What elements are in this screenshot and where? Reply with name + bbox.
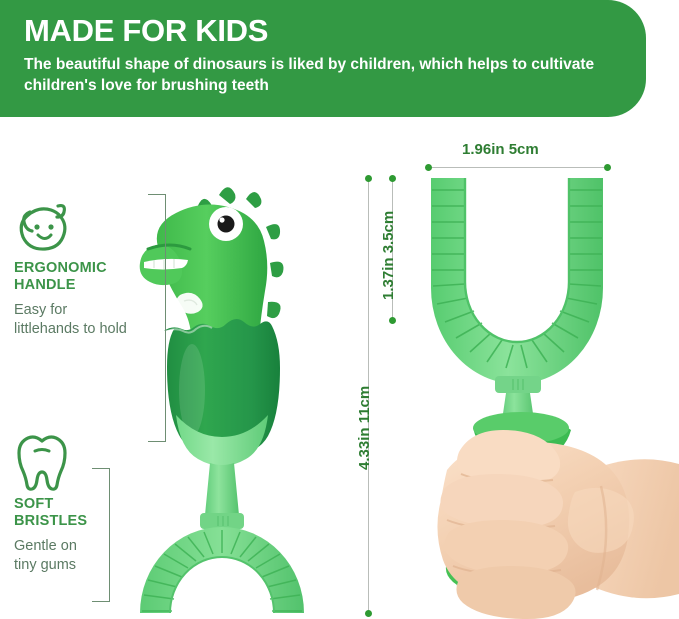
feature-body-line-1: Gentle on [14, 537, 154, 556]
child-hand [437, 430, 679, 619]
feature-body-line-2: tiny gums [14, 556, 154, 575]
feature-heading-line-1: SOFT [14, 496, 154, 513]
feature-body: Gentle on tiny gums [14, 537, 154, 575]
banner-subtitle: The beautiful shape of dinosaurs is like… [24, 54, 604, 96]
dimension-endpoint-dot [365, 175, 372, 182]
header-banner: MADE FOR KIDS The beautiful shape of din… [0, 0, 646, 117]
dimension-endpoint-dot [425, 164, 432, 171]
dimension-endpoint-dot [604, 164, 611, 171]
feature-heading-line-2: HANDLE [14, 277, 154, 294]
feature-soft-bristles: SOFT BRISTLES Gentle on tiny gums [14, 432, 154, 575]
dimension-label-brush-head-height: 1.37in 3.5cm [380, 211, 397, 300]
dino-eye-glint [219, 217, 224, 222]
feature-body-line-1: Easy for [14, 301, 154, 320]
dimension-line-brush-head-width [428, 167, 608, 168]
infographic-canvas: MADE FOR KIDS The beautiful shape of din… [0, 0, 679, 619]
feature-heading-line-2: BRISTLES [14, 513, 154, 530]
feature-heading: ERGONOMIC HANDLE [14, 260, 154, 294]
dino-eye-pupil [218, 216, 235, 233]
dimension-endpoint-dot [389, 175, 396, 182]
feature-body-line-2: littlehands to hold [14, 320, 154, 339]
page-title: MADE FOR KIDS [24, 12, 646, 50]
dimension-endpoint-dot [389, 317, 396, 324]
handle-stem [205, 463, 239, 521]
tooth-icon [14, 432, 154, 488]
feature-ergonomic-handle: ERGONOMIC HANDLE Easy for littlehands to… [14, 196, 154, 339]
feature-heading: SOFT BRISTLES [14, 496, 154, 530]
dimension-label-brush-head-width: 1.96in 5cm [462, 141, 539, 158]
stem-neck [200, 513, 244, 529]
hand-holding-brush-illustration [405, 170, 679, 619]
dimension-label-total-length: 4.33in 11cm [356, 386, 373, 470]
feature-heading-line-1: ERGONOMIC [14, 260, 154, 277]
u-brush-head-left [140, 527, 304, 613]
baby-face-icon [14, 196, 154, 252]
feature-body: Easy for littlehands to hold [14, 301, 154, 339]
dimension-endpoint-dot [365, 610, 372, 617]
u-brush-head-right [431, 178, 603, 384]
